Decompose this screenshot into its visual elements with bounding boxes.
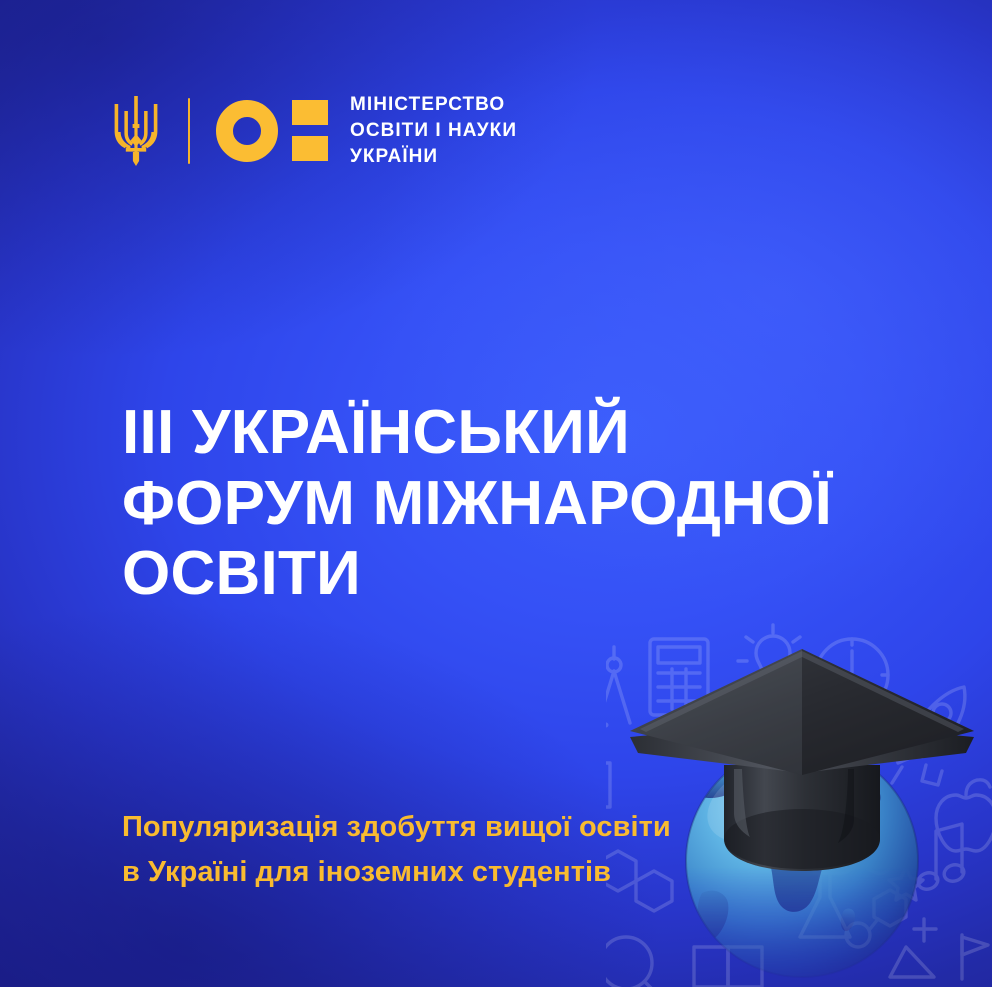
ministry-line-2: ОСВІТИ І НАУКИ [350,120,517,141]
title-line-1: III УКРАЇНСЬКИЙ [122,398,982,469]
ministry-line-1: МІНІСТЕРСТВО [350,94,505,115]
apple-icon [936,780,992,851]
page-subtitle: Популяризація здобуття вищої освіти в Ук… [122,805,671,895]
globe-with-graduation-cap-icon [606,617,992,987]
star-icon [889,867,923,900]
education-doodle-icons: 3 [606,617,992,987]
logo-square-bottom [292,136,328,161]
subtitle-line-1: Популяризація здобуття вищої освіти [122,805,671,850]
logo-squares-icon [292,100,328,161]
atom-icon [810,776,910,883]
title-line-2: ФОРУМ МІЖНАРОДНОЇ [122,469,982,540]
ukrainian-trident-tryzub-icon [108,94,164,168]
logo-divider [188,98,190,164]
clock-icon [816,639,888,711]
molecule-hexagon-icon [846,890,906,947]
lightbulb-icon [738,625,808,686]
book-icon [694,947,762,987]
compass-icon [606,647,630,723]
title-line-3: ОСВІТИ [122,539,982,610]
ministry-name: МІНІСТЕРСТВО ОСВІТИ І НАУКИ УКРАЇНИ [350,92,517,169]
mon-o-equals-mark [216,100,328,162]
cap-rim [630,721,974,773]
music-note-icon [916,824,966,892]
page-title: III УКРАЇНСЬКИЙ ФОРУМ МІЖНАРОДНОЇ ОСВІТИ [122,398,982,610]
ministry-logo-bar: МІНІСТЕРСТВО ОСВІТИ І НАУКИ УКРАЇНИ [108,92,517,169]
poster-canvas: МІНІСТЕРСТВО ОСВІТИ І НАУКИ УКРАЇНИ [0,0,992,987]
globe-graduation-artwork: 3 [606,617,992,987]
rocket-icon [892,687,965,785]
ruler-triangle-icon [890,919,936,977]
logo-ring-icon [216,100,278,162]
flask-icon [800,873,850,937]
calculator-icon [650,639,708,715]
flag-icon [962,935,988,979]
subtitle-line-2: в Україні для іноземних студентів [122,850,671,895]
cap-crown [724,765,880,871]
bar-chart-icon [606,763,610,807]
logo-square-top [292,100,328,125]
magnifier-icon [606,937,664,987]
cap-board [630,649,974,775]
ministry-line-3: УКРАЇНИ [350,146,438,167]
